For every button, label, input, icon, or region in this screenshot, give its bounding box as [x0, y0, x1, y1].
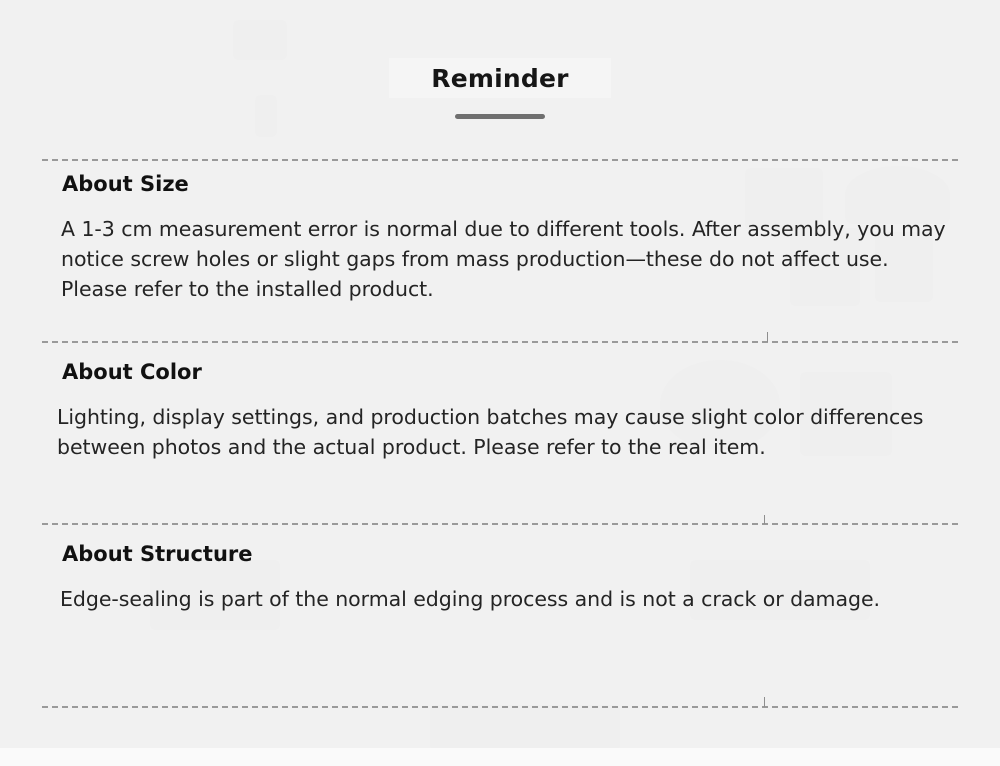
page-header: Reminder — [0, 0, 1000, 101]
section-divider-after-size — [42, 341, 958, 343]
section-divider-top — [42, 159, 958, 161]
section-divider-after-color — [42, 523, 958, 525]
section-body-about-structure: Edge-sealing is part of the normal edgin… — [0, 584, 1000, 614]
divider-tick-mark — [764, 515, 765, 524]
section-heading-about-color: About Color — [0, 358, 1000, 386]
section-body-about-size: A 1-3 cm measurement error is normal due… — [0, 214, 1000, 304]
reminder-page: Reminder About Size A 1-3 cm measurement… — [0, 0, 1000, 766]
section-heading-about-size: About Size — [0, 170, 1000, 198]
section-divider-bottom — [42, 706, 958, 708]
title-plate: Reminder — [389, 58, 610, 98]
title-underline-rule — [455, 114, 545, 119]
section-body-about-color: Lighting, display settings, and producti… — [0, 402, 1000, 462]
section-about-color: About Color Lighting, display settings, … — [0, 358, 1000, 462]
footer-band — [0, 748, 1000, 766]
divider-tick-mark — [767, 332, 768, 342]
section-about-structure: About Structure Edge-sealing is part of … — [0, 540, 1000, 614]
page-title: Reminder — [431, 64, 568, 93]
section-about-size: About Size A 1-3 cm measurement error is… — [0, 170, 1000, 304]
section-heading-about-structure: About Structure — [0, 540, 1000, 568]
divider-tick-mark — [764, 697, 765, 707]
